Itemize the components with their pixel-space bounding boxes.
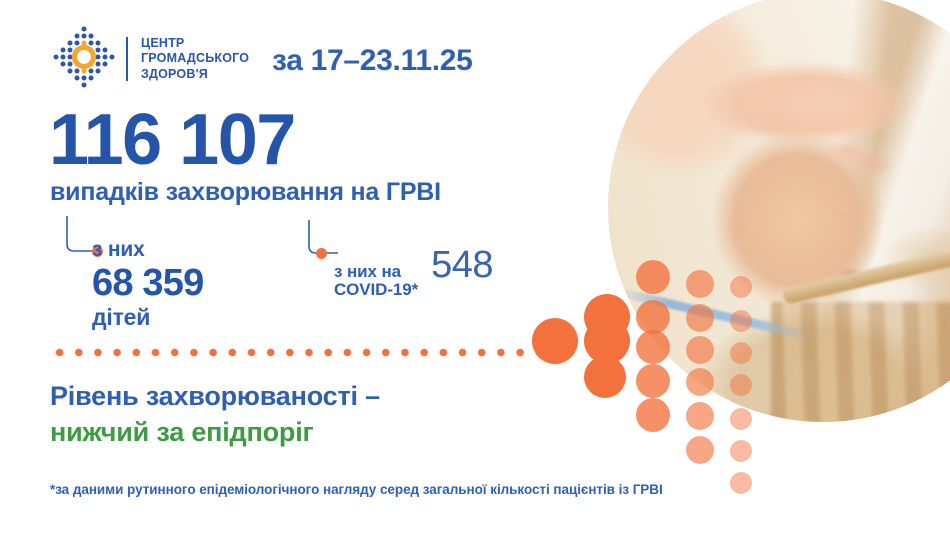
children-label: з них [92,238,203,262]
epidemic-threshold-statement: Рівень захворюваності – нижчий за епідпо… [50,378,380,450]
infographic-poster: ЦЕНТР ГРОМАДСЬКОГО ЗДОРОВ'Я за 17–23.11.… [0,0,950,535]
statement-line-2: нижчий за епідпоріг [50,414,380,450]
covid-label: з них на COVID-19* [334,263,418,300]
total-cases-caption: випадків захворювання на ГРВІ [50,178,441,207]
period-label: за 17–23.11.25 [272,44,473,78]
covid-bullet-dot [316,248,327,259]
logo-divider [126,37,128,81]
covid-label-line-2: COVID-19* [334,280,418,299]
dot-diamond-ring-icon [47,24,121,94]
logo-wordmark: ЦЕНТР ГРОМАДСЬКОГО ЗДОРОВ'Я [141,36,249,82]
covid-stat-block: з них на COVID-19* 548 [334,244,493,300]
covid-number: 548 [431,244,493,287]
statement-line-1: Рівень захворюваності – [50,378,380,414]
crib-wood-slats [771,302,950,422]
total-cases-number: 116 107 [49,104,295,176]
logo-line-2: ГРОМАДСЬКОГО [141,51,249,66]
orange-dot-grid [540,268,760,498]
children-unit: дітей [92,304,203,331]
children-number: 68 359 [92,264,203,304]
logo-line-1: ЦЕНТР [141,36,249,51]
logo[interactable]: ЦЕНТР ГРОМАДСЬКОГО ЗДОРОВ'Я [47,24,249,94]
covid-label-line-1: з них на [334,262,401,281]
dotted-divider [50,348,550,357]
children-stat-block: з них 68 359 дітей [92,238,203,331]
logo-line-3: ЗДОРОВ'Я [141,67,249,82]
